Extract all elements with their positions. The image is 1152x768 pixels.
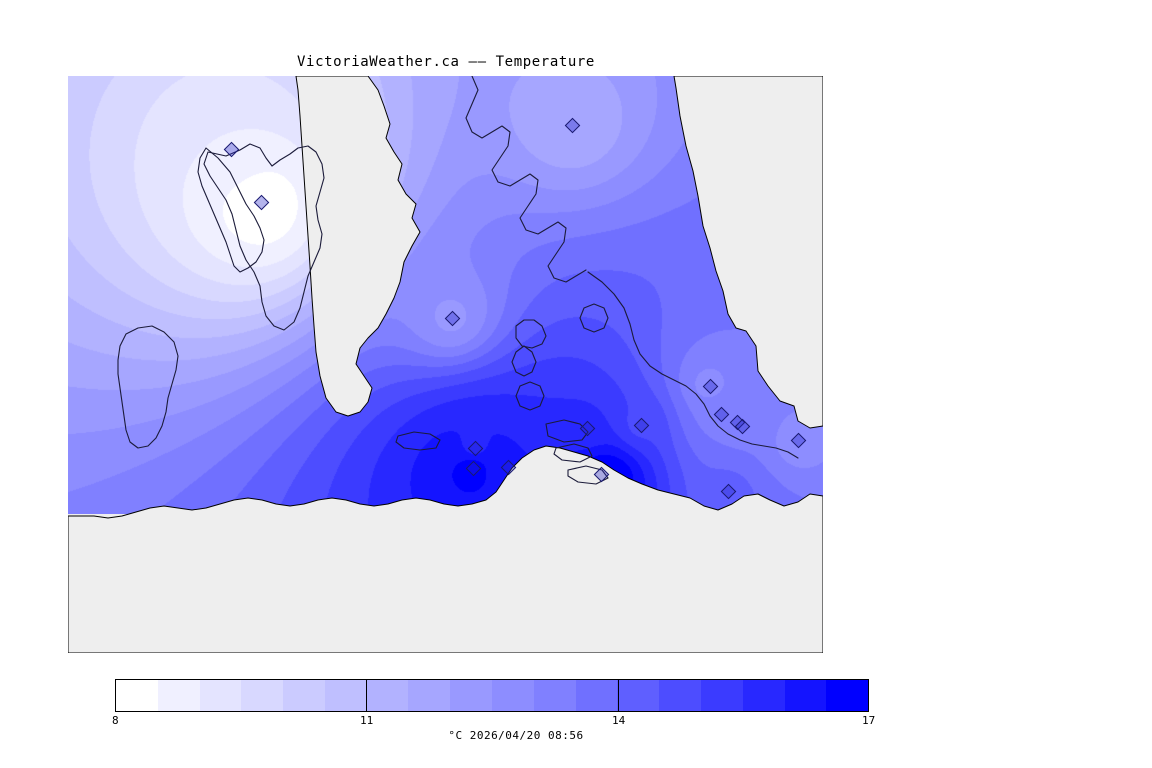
colorbar-label-max: 17 — [862, 714, 875, 727]
colorbar-band-17 — [826, 680, 868, 711]
colorbar-band-1 — [158, 680, 200, 711]
colorbar-label-mid2: 14 — [612, 714, 625, 727]
colorbar-band-7 — [408, 680, 450, 711]
coastline-linework — [68, 76, 823, 653]
colorbar-label-min: 8 — [112, 714, 119, 727]
colorbar-band-13 — [659, 680, 701, 711]
map-plot-area — [68, 76, 823, 653]
colorbar-band-6 — [367, 680, 409, 711]
colorbar-tick — [618, 679, 619, 712]
colorbar-band-4 — [283, 680, 325, 711]
colorbar-tick — [115, 679, 116, 712]
colorbar-footer-text: °C 2026/04/20 08:56 — [448, 729, 583, 742]
page-title-text: VictoriaWeather.ca —— Temperature — [297, 54, 595, 70]
weather-map-page: VictoriaWeather.ca —— Temperature — [0, 0, 1152, 768]
colorbar-band-3 — [241, 680, 283, 711]
colorbar-band-11 — [576, 680, 618, 711]
colorbar-band-12 — [617, 680, 659, 711]
colorbar-band-9 — [492, 680, 534, 711]
colorbar-band-2 — [200, 680, 242, 711]
colorbar-band-0 — [116, 680, 158, 711]
colorbar-band-5 — [325, 680, 367, 711]
page-title: VictoriaWeather.ca —— Temperature — [0, 54, 1152, 70]
colorbar: 8 11 14 17 — [115, 679, 869, 712]
colorbar-tick — [366, 679, 367, 712]
colorbar-tick — [868, 679, 869, 712]
colorbar-band-15 — [743, 680, 785, 711]
colorbar-band-8 — [450, 680, 492, 711]
colorbar-gradient — [115, 679, 869, 712]
colorbar-band-14 — [701, 680, 743, 711]
colorbar-label-mid1: 11 — [360, 714, 373, 727]
colorbar-band-10 — [534, 680, 576, 711]
colorbar-band-16 — [785, 680, 827, 711]
colorbar-footer: °C 2026/04/20 08:56 — [0, 729, 1152, 742]
